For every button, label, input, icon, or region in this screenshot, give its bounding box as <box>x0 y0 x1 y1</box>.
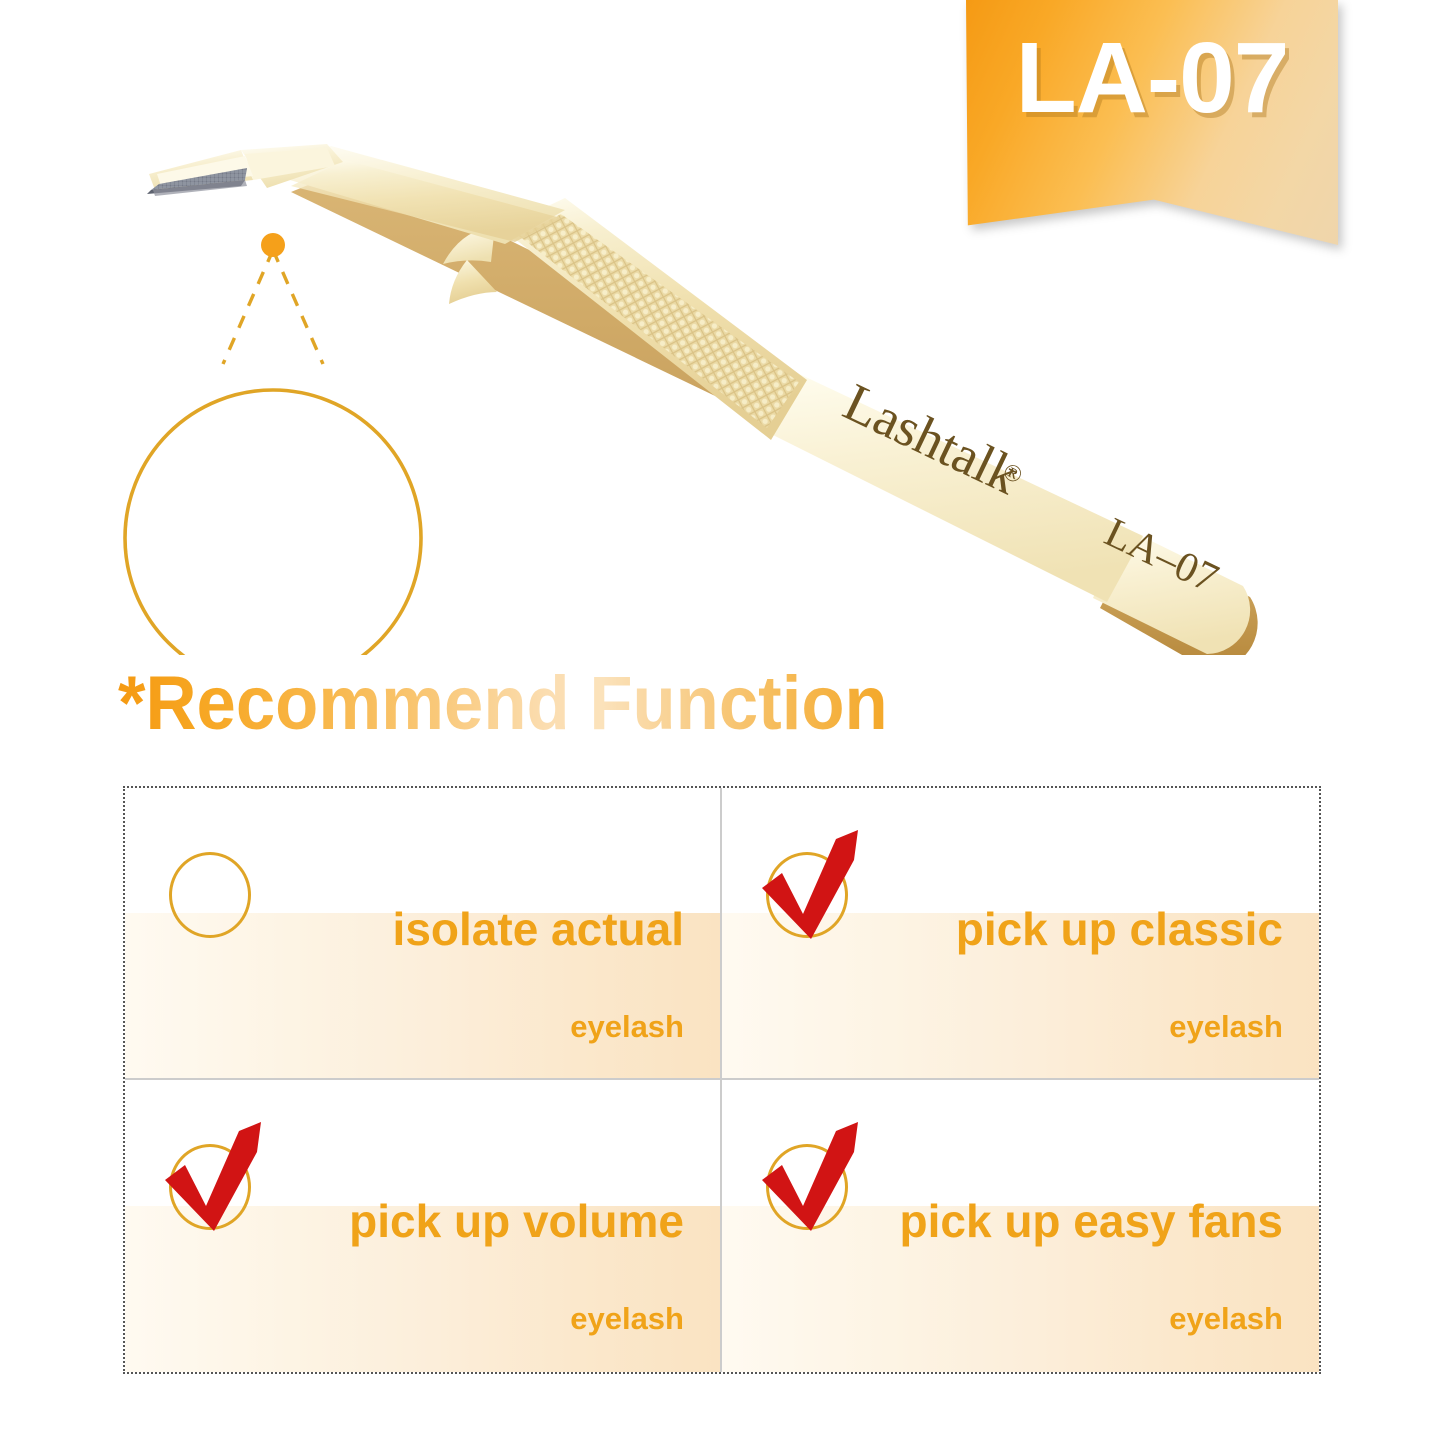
function-cell-pick-up-volume[interactable]: pick up volume eyelash <box>125 1080 722 1372</box>
magnifier-circle <box>121 390 431 655</box>
callout-connector <box>223 233 323 364</box>
function-subtitle: eyelash <box>135 1298 684 1340</box>
function-subtitle: eyelash <box>732 1298 1283 1340</box>
section-heading: *Recommend Function <box>118 663 1118 745</box>
function-subtitle: eyelash <box>732 1006 1283 1048</box>
cell-text-block: isolate actual eyelash <box>135 900 684 1048</box>
cell-text-block: pick up classic eyelash <box>732 900 1283 1048</box>
cell-text-block: pick up volume eyelash <box>135 1192 684 1340</box>
function-cell-pick-up-easy-fans[interactable]: pick up easy fans eyelash <box>722 1080 1319 1372</box>
recommend-function-grid: isolate actual eyelash pick up classic e… <box>123 786 1321 1374</box>
function-title: pick up easy fans <box>732 1192 1283 1250</box>
cell-text-block: pick up easy fans eyelash <box>732 1192 1283 1340</box>
product-illustration: Lashtalk ® LA–07 <box>95 110 1325 655</box>
recommend-function-title: *Recommend Function <box>118 663 1048 745</box>
function-subtitle: eyelash <box>135 1006 684 1048</box>
function-cell-isolate-actual[interactable]: isolate actual eyelash <box>125 788 722 1080</box>
function-title: isolate actual <box>135 900 684 958</box>
function-title: pick up classic <box>732 900 1283 958</box>
function-cell-pick-up-classic[interactable]: pick up classic eyelash <box>722 788 1319 1080</box>
function-title: pick up volume <box>135 1192 684 1250</box>
